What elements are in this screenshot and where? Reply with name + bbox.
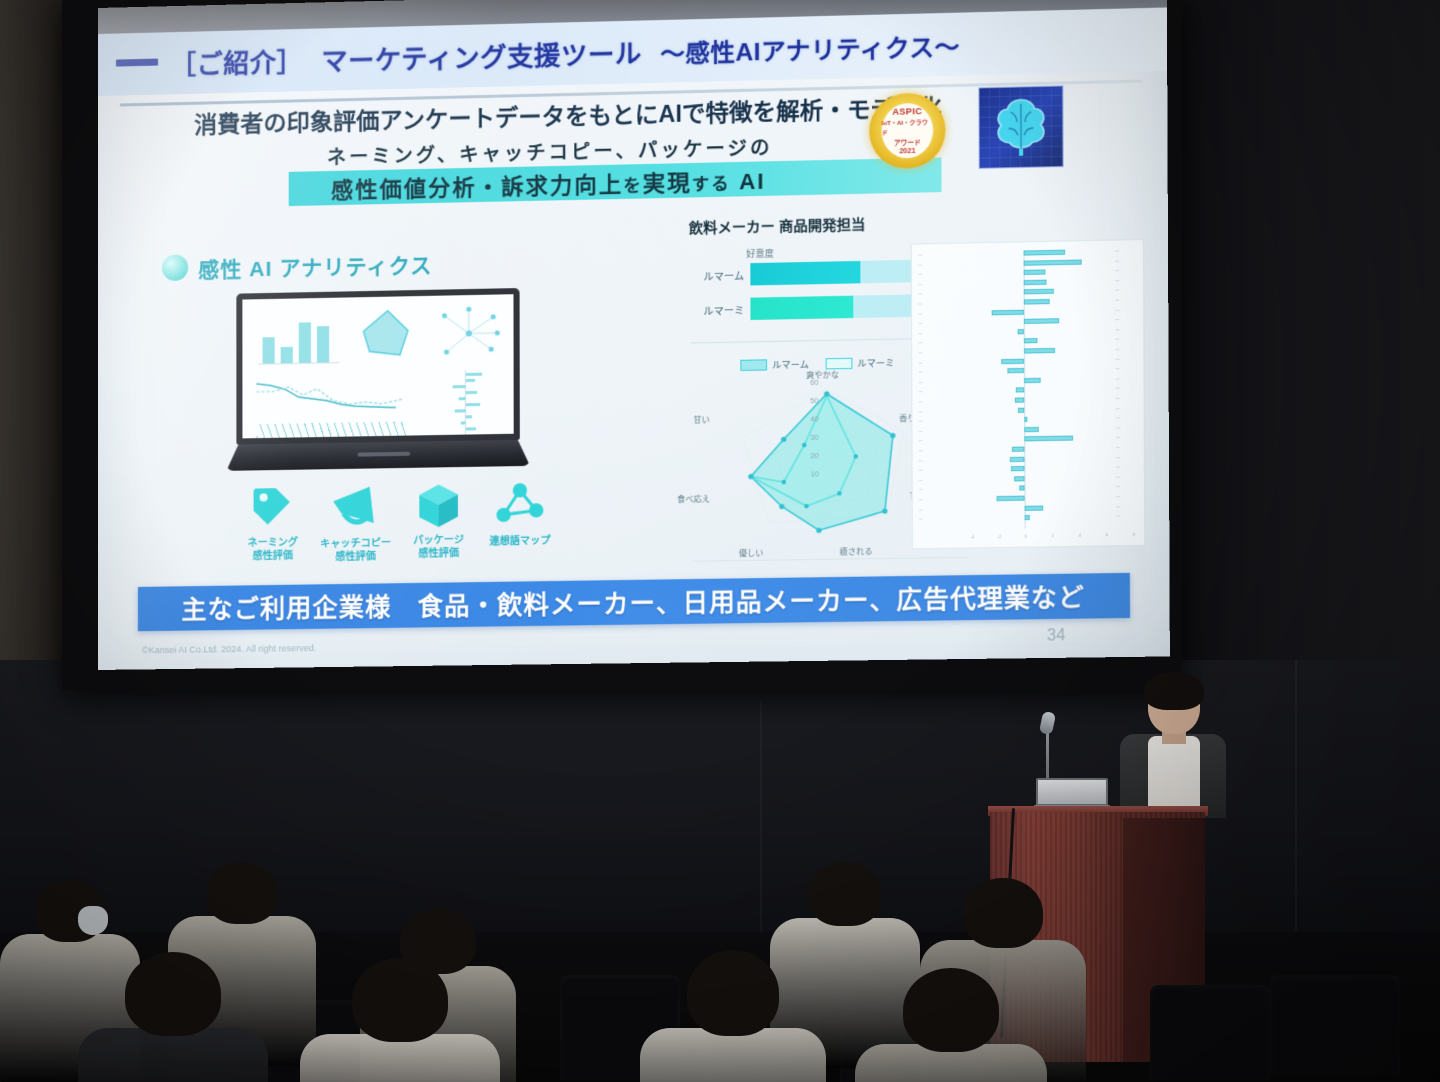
bar-fill <box>750 296 853 320</box>
tornado-row: —— <box>912 425 1143 434</box>
chair <box>1270 975 1400 1075</box>
tornado-row-label-right: — <box>1115 306 1119 311</box>
feature-label: 連想語マップ <box>477 535 563 549</box>
tornado-row-label: — <box>919 516 923 521</box>
tornado-row-label-right: — <box>1116 513 1120 518</box>
mini-line-chart <box>255 373 409 422</box>
tornado-tick: 8 <box>1133 532 1135 537</box>
slide-canvas: ［ご紹介］ マーケティング支援ツール ～感性AIアナリティクス～ 消費者の印象評… <box>98 0 1170 670</box>
tornado-bar <box>1024 348 1055 354</box>
tornado-row-label: — <box>918 310 922 315</box>
tornado-row-label: — <box>918 291 922 296</box>
tornado-row-label-right: — <box>1116 454 1120 459</box>
tornado-bar <box>1017 407 1024 412</box>
badge-line-1: ASPIC <box>892 106 922 117</box>
face-mask <box>78 906 107 935</box>
tornado-bar <box>1014 476 1025 481</box>
tornado-row: —— <box>913 494 1144 503</box>
laptop-screen <box>242 294 513 438</box>
network-map-icon <box>493 482 546 527</box>
tornado-row-label: — <box>919 408 923 413</box>
tornado-row-label-right: — <box>1115 316 1119 321</box>
tornado-row-label-right: — <box>1116 493 1120 498</box>
tornado-row-label-right: — <box>1115 365 1119 370</box>
megaphone-icon <box>329 484 382 533</box>
tornado-row-label: — <box>918 271 922 276</box>
wall-seam <box>1295 660 1297 960</box>
tornado-row-label: — <box>918 330 922 335</box>
tornado-row-label: — <box>919 388 923 393</box>
tornado-row: —— <box>912 395 1143 404</box>
tornado-bar <box>1008 368 1024 373</box>
radar-axis-label: 甘い <box>693 414 709 425</box>
tornado-row: —— <box>912 317 1143 326</box>
tornado-row-label-right: — <box>1115 336 1119 341</box>
bar-track <box>750 259 935 285</box>
tornado-tick: 2 <box>1052 533 1054 538</box>
tornado-row: —— <box>912 346 1143 355</box>
tornado-bar <box>996 496 1024 502</box>
tornado-row-label-right: — <box>1116 503 1120 508</box>
price-tag-icon <box>250 484 296 533</box>
tornado-row-label-right: — <box>1115 277 1119 282</box>
tornado-row-label: — <box>918 379 922 384</box>
tornado-tick: 6 <box>1106 532 1108 537</box>
laptop-dashboard-mockup <box>226 288 530 477</box>
tornado-row: —— <box>912 356 1143 365</box>
radar-tick: 50 <box>810 398 818 405</box>
tornado-bar <box>1024 378 1040 383</box>
legend-swatch <box>740 359 767 371</box>
tornado-row: —— <box>912 268 1143 278</box>
page-number: 34 <box>1047 627 1066 646</box>
tornado-chart: ————————————————————————————————————————… <box>912 240 1143 245</box>
tornado-row-label-right: — <box>1115 267 1119 272</box>
laptop-lid <box>236 288 519 444</box>
chair <box>1150 985 1270 1080</box>
presenter-hair <box>1144 672 1204 710</box>
tornado-row-label: — <box>919 398 923 403</box>
tornado-row-label: — <box>919 437 923 442</box>
tornado-row-label: — <box>919 506 923 511</box>
lead-main: 感性価値分析・訴求力向上 <box>331 172 623 204</box>
audience-head <box>206 862 278 924</box>
tornado-row-label: — <box>918 340 922 345</box>
tornado-bar <box>1024 250 1066 256</box>
tornado-row-label-right: — <box>1116 483 1120 488</box>
audience-head <box>963 878 1043 948</box>
tornado-row-label: — <box>919 457 923 462</box>
radar-tick: 60 <box>810 380 818 387</box>
feature-catchcopy[interactable]: キャッチコピー 感性評価 <box>313 484 398 564</box>
tornado-bar <box>1019 486 1024 491</box>
feature-naming[interactable]: ネーミング 感性評価 <box>230 484 315 564</box>
feature-label: ネーミング 感性評価 <box>230 537 315 563</box>
audience-member <box>855 968 1047 1082</box>
tornado-bar <box>991 309 1023 315</box>
tornado-bar <box>1001 358 1024 364</box>
tornado-row: —— <box>912 336 1143 345</box>
title-main: マーケティング支援ツール <box>321 33 642 78</box>
tornado-bar <box>1024 436 1073 442</box>
audience-head <box>125 952 221 1036</box>
tornado-row-label: — <box>919 486 923 491</box>
mini-bar-chart <box>259 310 344 370</box>
tornado-row-label-right: — <box>1115 248 1119 253</box>
audience-body <box>78 1028 268 1082</box>
tornado-row: —— <box>913 454 1144 463</box>
tornado-row-label-right: — <box>1116 414 1120 419</box>
tornado-row: —— <box>912 248 1143 258</box>
radar-tick: 40 <box>810 416 818 423</box>
center-chart-title: 飲料メーカー 商品開発担当 <box>623 213 931 240</box>
tornado-bar <box>1010 456 1025 461</box>
radar-axis-label: 癒される <box>840 546 873 558</box>
mini-radar-chart <box>347 304 420 368</box>
audience-member <box>640 950 826 1082</box>
tornado-row-label-right: — <box>1115 297 1119 302</box>
badge-line-4: 2021 <box>899 148 915 155</box>
radar-tick: 30 <box>810 435 818 442</box>
radar-tick: 20 <box>810 453 818 460</box>
tornado-row-label: — <box>919 418 923 423</box>
podium-laptop-screen <box>1036 778 1108 806</box>
tornado-row: —— <box>913 445 1144 454</box>
tornado-row-label: — <box>918 359 922 364</box>
tornado-row: —— <box>912 297 1143 307</box>
brain-glyph <box>988 93 1055 162</box>
badge-line-2: IoT・AI・クラウド <box>882 117 934 136</box>
tornado-bar <box>1024 289 1054 295</box>
audience-head <box>903 968 999 1052</box>
tornado-row-label-right: — <box>1116 405 1120 410</box>
tornado-row-label-right: — <box>1116 444 1120 449</box>
tornado-row-label-right: — <box>1116 424 1120 429</box>
tornado-row-label-right: — <box>1115 355 1119 360</box>
banner-text: 主なご利用企業様 食品・飲料メーカー、日用品メーカー、広告代理業など <box>181 578 1085 627</box>
bar-label: ルマーミ <box>691 302 744 318</box>
tornado-bar <box>1024 338 1038 343</box>
word-association-panel: ————————————————————————————————————————… <box>911 239 1146 550</box>
copyright-text: ©Kansei AI Co.Ltd. 2024. All right reser… <box>142 643 317 655</box>
room-wall-right <box>1180 0 1440 700</box>
tornado-row-label-right: — <box>1115 287 1119 292</box>
legend-swatch <box>825 358 852 370</box>
tornado-tick: -2 <box>998 534 1002 539</box>
section-bullet-icon <box>162 254 188 281</box>
mini-network-graph <box>426 300 511 368</box>
wall-seam <box>760 700 762 950</box>
tornado-row: —— <box>913 464 1144 473</box>
presenter-shirt <box>1148 736 1200 816</box>
lead-suffix: する <box>692 174 731 194</box>
tornado-row-label: — <box>918 261 922 266</box>
tornado-row-label-right: — <box>1116 385 1120 390</box>
badge-line-3: アワード <box>894 137 921 148</box>
feature-icon-row: ネーミング 感性評価 キャッチコピー 感性評価 <box>238 479 573 583</box>
feature-label: キャッチコピー 感性評価 <box>313 538 398 565</box>
audience-member <box>78 952 268 1082</box>
tornado-bar <box>1024 318 1059 324</box>
tornado-row-label: — <box>918 252 922 257</box>
tornado-row-label: — <box>919 428 923 433</box>
tornado-bar <box>1024 270 1046 276</box>
header-accent-dash <box>116 59 158 67</box>
lead-verb: 実現 <box>643 170 692 196</box>
tornado-bar <box>1011 466 1025 471</box>
tornado-bar <box>1012 447 1024 452</box>
tornado-row-label-right: — <box>1115 257 1119 262</box>
tornado-row: —— <box>912 435 1143 444</box>
tornado-tick: 4 <box>1079 533 1081 538</box>
tornado-bar <box>1024 299 1050 305</box>
tornado-bar <box>1015 397 1024 402</box>
tornado-row-label-right: — <box>1115 375 1119 380</box>
lead-ai: AI <box>739 168 766 194</box>
bar-track <box>750 294 935 320</box>
audience-member <box>300 958 500 1082</box>
tornado-row: —— <box>913 513 1144 522</box>
tornado-row-label: — <box>918 349 922 354</box>
slide-subtitle: 消費者の印象評価アンケートデータをもとにAIで特徴を解析・モデル化 <box>194 88 942 140</box>
audience-body <box>640 1028 826 1082</box>
tornado-row: —— <box>912 307 1143 317</box>
tornado-row-label-right: — <box>1116 434 1120 439</box>
tornado-row-label: — <box>918 369 922 374</box>
tornado-row-label-right: — <box>1115 326 1119 331</box>
feature-package[interactable]: パッケージ 感性評価 <box>396 481 481 561</box>
radar-axis-label: 優しい <box>739 548 764 560</box>
metric-header: 好意度 <box>746 246 774 260</box>
audience-head <box>808 862 882 926</box>
title-bracket-label: ［ご紹介］ <box>170 41 303 81</box>
tornado-row-label-right: — <box>1116 473 1120 478</box>
tornado-row: —— <box>912 366 1143 375</box>
projection-screen: ［ご紹介］ マーケティング支援ツール ～感性AIアナリティクス～ 消費者の印象評… <box>62 0 1182 690</box>
tornado-bar <box>1024 417 1027 422</box>
tornado-row: —— <box>912 258 1143 268</box>
tornado-row: —— <box>913 474 1144 483</box>
section-title: 感性 AI アナリティクス <box>198 249 432 284</box>
tornado-row-label-right: — <box>1115 346 1119 351</box>
presenter <box>1118 676 1226 816</box>
brain-circuit-icon <box>978 85 1063 168</box>
aspic-award-badge: ASPIC IoT・AI・クラウド アワード 2021 <box>869 92 946 169</box>
radar-tick: 10 <box>811 471 819 478</box>
tornado-row: —— <box>912 278 1143 288</box>
feature-association-map[interactable]: 連想語マップ <box>477 482 563 550</box>
tornado-row: —— <box>912 287 1143 297</box>
tornado-bar <box>1017 329 1024 334</box>
tornado-bar <box>1016 388 1024 393</box>
radar-axis-label: 食べ応え <box>677 493 710 505</box>
title-sub: ～感性AIアナリティクス～ <box>660 26 960 69</box>
tornado-row-label: — <box>919 447 923 452</box>
mini-hatch-row <box>257 421 409 438</box>
tornado-row-label-right: — <box>1116 395 1120 400</box>
tornado-row: —— <box>912 405 1143 414</box>
tornado-row-label: — <box>919 467 923 472</box>
tornado-row-label: — <box>918 320 922 325</box>
tornado-row: —— <box>912 415 1143 424</box>
bar-label: ルマーム <box>691 267 744 283</box>
presentation-photo-scene: ［ご紹介］ マーケティング支援ツール ～感性AIアナリティクス～ 消費者の印象評… <box>0 0 1440 1082</box>
tornado-axis-ticks: -4-202468 <box>912 240 1143 245</box>
tornado-row: —— <box>912 376 1143 385</box>
audience-head <box>687 950 779 1036</box>
mini-tornado-chart <box>424 369 509 435</box>
tornado-row-label: — <box>918 281 922 286</box>
tornado-bar <box>1025 505 1044 510</box>
tornado-bar <box>1024 279 1047 285</box>
tornado-row: —— <box>913 484 1144 493</box>
tornado-row: —— <box>913 504 1144 513</box>
tornado-bar <box>1025 515 1030 520</box>
tornado-tick: -4 <box>971 534 975 539</box>
tornado-row-label-right: — <box>1116 464 1120 469</box>
package-cube-icon <box>415 481 462 530</box>
tornado-bar <box>1024 427 1039 432</box>
tornado-bar <box>1024 259 1082 265</box>
tornado-row-label: — <box>919 496 923 501</box>
audience-head <box>352 958 448 1042</box>
tornado-row: —— <box>912 386 1143 395</box>
bar-fill <box>750 261 860 286</box>
tornado-tick: 0 <box>1025 533 1027 538</box>
lead-particle: を <box>623 176 642 196</box>
tornado-row-label: — <box>918 300 922 305</box>
feature-label: パッケージ 感性評価 <box>396 534 481 561</box>
tornado-row: —— <box>912 327 1143 336</box>
tornado-row-label: — <box>919 477 923 482</box>
